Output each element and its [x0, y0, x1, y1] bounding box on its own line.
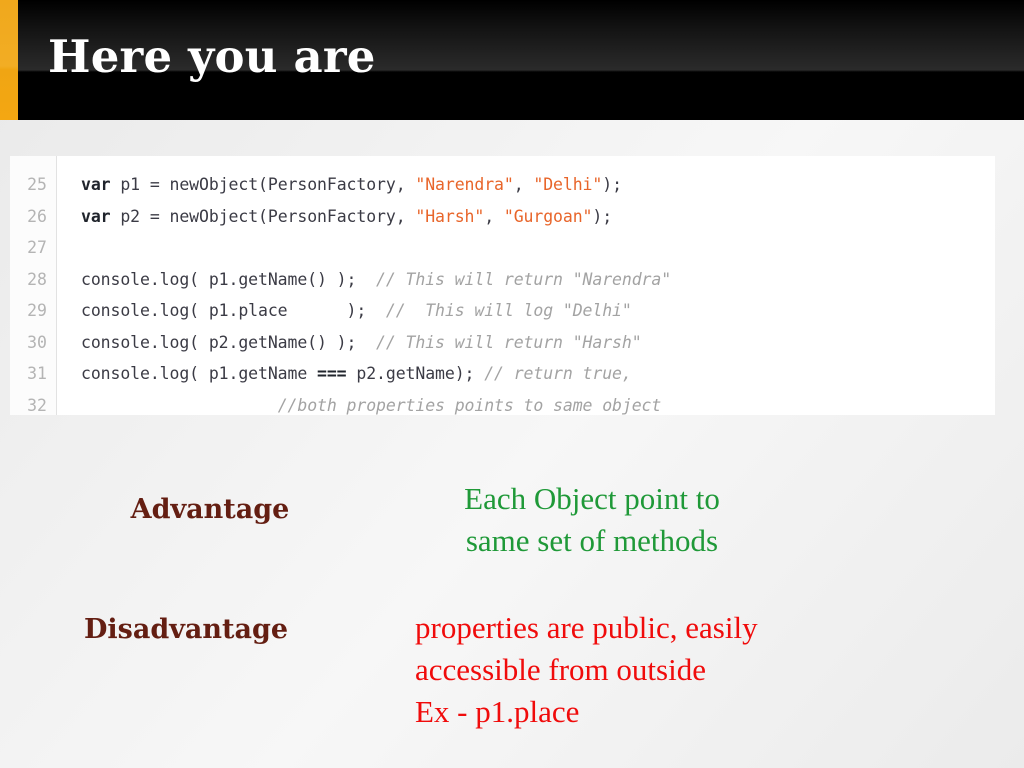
code-token-pl: );	[602, 175, 622, 194]
code-token-kw: var	[81, 175, 111, 194]
code-line-number: 30	[10, 327, 56, 359]
disadvantage-label: Disadvantage	[62, 614, 310, 645]
code-token-pl: p2 = newObject(PersonFactory,	[111, 207, 416, 226]
code-line-number: 25	[10, 169, 56, 201]
advantage-text: Each Object point tosame set of methods	[400, 478, 784, 562]
code-line-number: 28	[10, 264, 56, 296]
code-token-cmt: // return true,	[484, 364, 632, 383]
code-line-number: 29	[10, 295, 56, 327]
code-token-pl: console.log( p2.getName() );	[81, 333, 376, 352]
code-line-number: 31	[10, 358, 56, 390]
code-token-str: "Narendra"	[415, 175, 513, 194]
code-token-cmt: // This will return "Narendra"	[376, 270, 671, 289]
code-token-str: "Delhi"	[533, 175, 602, 194]
code-line: var p1 = newObject(PersonFactory, "Naren…	[81, 169, 995, 201]
code-line	[81, 232, 995, 264]
code-token-op: ===	[317, 364, 347, 383]
code-token-cmt: //both properties points to same object	[278, 396, 662, 415]
code-token-pl: ,	[514, 175, 534, 194]
code-token-pl: ,	[484, 207, 504, 226]
slide: Here you are 2526272829303132 var p1 = n…	[0, 0, 1024, 768]
code-token-pl: console.log( p1.getName	[81, 364, 317, 383]
code-token-pl: console.log( p1.place );	[81, 301, 386, 320]
code-line-number: 27	[10, 232, 56, 264]
code-line-number: 26	[10, 201, 56, 233]
code-token-pl	[81, 396, 278, 415]
code-token-kw: var	[81, 207, 111, 226]
code-token-str: "Gurgoan"	[504, 207, 593, 226]
code-line: console.log( p1.place ); // This will lo…	[81, 295, 995, 327]
code-token-pl: p1 = newObject(PersonFactory,	[111, 175, 416, 194]
code-line-number-gutter: 2526272829303132	[10, 156, 57, 415]
code-content[interactable]: var p1 = newObject(PersonFactory, "Naren…	[57, 156, 995, 415]
code-block[interactable]: 2526272829303132 var p1 = newObject(Pers…	[10, 156, 995, 415]
code-line: var p2 = newObject(PersonFactory, "Harsh…	[81, 201, 995, 233]
slide-header: Here you are	[0, 0, 1024, 120]
code-line: console.log( p1.getName === p2.getName);…	[81, 358, 995, 390]
code-token-str: "Harsh"	[415, 207, 484, 226]
disadvantage-text-line: properties are public, easily	[415, 607, 935, 649]
code-line-number: 32	[10, 390, 56, 416]
code-token-pl: );	[592, 207, 612, 226]
code-token-pl: console.log( p1.getName() );	[81, 270, 376, 289]
code-token-cmt: // This will log "Delhi"	[386, 301, 632, 320]
advantage-label: Advantage	[112, 494, 308, 525]
code-line: //both properties points to same object	[81, 390, 995, 416]
code-token-cmt: // This will return "Harsh"	[376, 333, 642, 352]
header-accent-bar	[0, 0, 18, 120]
code-line: console.log( p2.getName() ); // This wil…	[81, 327, 995, 359]
page-title: Here you are	[48, 31, 376, 83]
advantage-text-line: same set of methods	[400, 520, 784, 562]
code-line: console.log( p1.getName() ); // This wil…	[81, 264, 995, 296]
advantage-text-line: Each Object point to	[400, 478, 784, 520]
disadvantage-text-line: Ex - p1.place	[415, 691, 935, 733]
code-token-pl: p2.getName);	[347, 364, 485, 383]
disadvantage-text-line: accessible from outside	[415, 649, 935, 691]
disadvantage-text: properties are public, easilyaccessible …	[415, 607, 935, 733]
